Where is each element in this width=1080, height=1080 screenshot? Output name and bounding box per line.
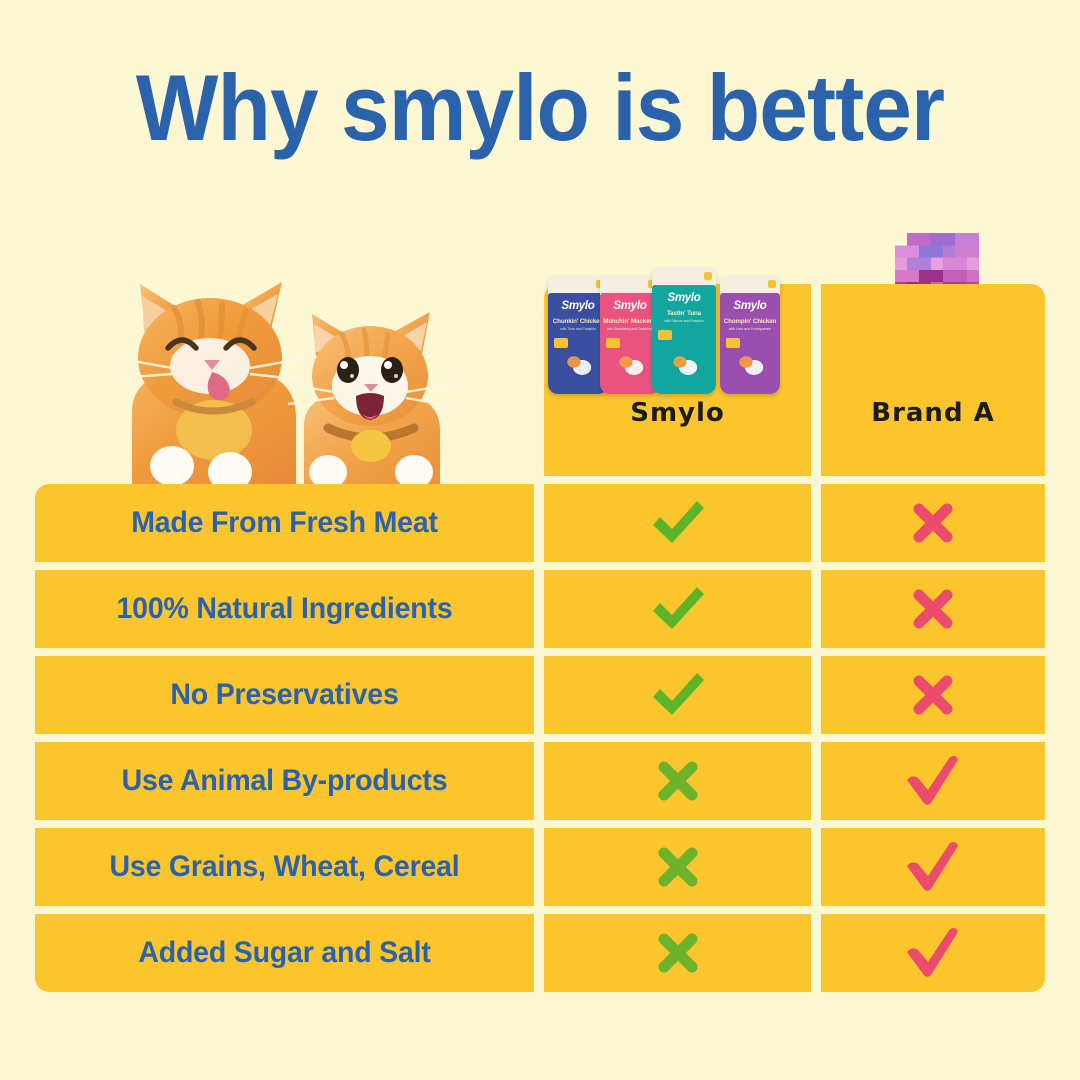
pouch-brand: Smylo — [720, 300, 780, 312]
pouch-subtitle: with Strawberry and Cranberry — [602, 327, 658, 331]
pouch-munchin-mackerel: Smylo Munchin' Mackerel with Strawberry … — [600, 276, 660, 394]
brand-a-value-cell — [821, 570, 1045, 648]
pouch-fish-art — [667, 350, 701, 380]
table-row: Use Grains, Wheat, Cereal — [35, 828, 1045, 906]
infographic-page: Why smylo is better — [0, 0, 1080, 1080]
smylo-value-cell — [544, 742, 811, 820]
table-row: 100% Natural Ingredients — [35, 570, 1045, 648]
feature-label: Use Animal By-products — [47, 764, 521, 798]
feature-label: No Preservatives — [47, 678, 521, 712]
smylo-value-cell — [544, 570, 811, 648]
feature-label-cell: Use Grains, Wheat, Cereal — [35, 828, 534, 906]
cross-icon — [821, 586, 1045, 632]
column-header-brand-a: Brand A — [821, 284, 1045, 476]
table-row: Added Sugar and Salt — [35, 914, 1045, 992]
pouch-chip-badge — [554, 338, 568, 348]
brand-a-value-cell — [821, 484, 1045, 562]
pouch-chip-badge — [658, 330, 672, 340]
column-header-smylo-label: Smylo — [544, 398, 811, 428]
brand-a-value-cell — [821, 656, 1045, 734]
feature-label: Made From Fresh Meat — [47, 506, 521, 540]
pouch-tastin-tuna: Smylo Tastin' Tuna with Salmon and Pumpk… — [652, 268, 716, 394]
smylo-value-cell — [544, 914, 811, 992]
brand-a-value-cell — [821, 742, 1045, 820]
feature-label: Added Sugar and Salt — [47, 936, 521, 970]
table-row: Use Animal By-products — [35, 742, 1045, 820]
feature-label-cell: 100% Natural Ingredients — [35, 570, 534, 648]
feature-label: Use Grains, Wheat, Cereal — [47, 850, 521, 884]
check-icon — [821, 752, 1045, 810]
pouch-corner-badge — [768, 280, 776, 288]
pouch-brand: Smylo — [600, 300, 660, 312]
check-icon — [544, 667, 811, 723]
column-header-brand-a-label: Brand A — [821, 398, 1045, 428]
pouch-brand: Smylo — [652, 292, 716, 304]
feature-label-cell: Use Animal By-products — [35, 742, 534, 820]
cross-icon — [544, 758, 811, 804]
pouch-subtitle: with Tuna and Pumpkin — [550, 327, 606, 331]
check-icon — [544, 581, 811, 637]
page-title: Why smylo is better — [38, 58, 1042, 158]
smylo-product-pouches: Smylo Chunkin' Chicken with Tuna and Pum… — [548, 252, 798, 394]
cross-icon — [821, 500, 1045, 546]
cross-icon — [544, 930, 811, 976]
feature-label-cell: Added Sugar and Salt — [35, 914, 534, 992]
pouch-corner-badge — [704, 272, 712, 280]
check-icon — [544, 495, 811, 551]
feature-label: 100% Natural Ingredients — [47, 592, 521, 626]
check-icon — [821, 838, 1045, 896]
pouch-flavor: Tastin' Tuna — [654, 310, 714, 317]
pouch-subtitle: with Liver and Pomegranate — [722, 327, 778, 331]
cross-icon — [544, 844, 811, 890]
pouch-cat-art — [733, 350, 767, 380]
pouch-chunkin-chicken: Smylo Chunkin' Chicken with Tuna and Pum… — [548, 276, 608, 394]
smylo-value-cell — [544, 484, 811, 562]
smylo-value-cell — [544, 656, 811, 734]
pouch-flavor: Chunkin' Chicken — [550, 318, 606, 325]
pouch-chompin-chicken: Smylo Chompin' Chicken with Liver and Po… — [720, 276, 780, 394]
pouch-chip-badge — [726, 338, 740, 348]
pouch-brand: Smylo — [548, 300, 608, 312]
pouch-flavor: Munchin' Mackerel — [602, 318, 658, 325]
pouch-flavor: Chompin' Chicken — [722, 318, 778, 325]
check-icon — [821, 924, 1045, 982]
smylo-value-cell — [544, 828, 811, 906]
feature-label-cell: No Preservatives — [35, 656, 534, 734]
pouch-cat-art — [561, 350, 595, 380]
comparison-table: Smylo Brand A Made From Fresh Meat — [35, 284, 1045, 986]
table-row: No Preservatives — [35, 656, 1045, 734]
pouch-chip-badge — [606, 338, 620, 348]
feature-label-cell: Made From Fresh Meat — [35, 484, 534, 562]
pouch-cat-art — [613, 350, 647, 380]
cross-icon — [821, 672, 1045, 718]
table-row: Made From Fresh Meat — [35, 484, 1045, 562]
brand-a-value-cell — [821, 828, 1045, 906]
pouch-subtitle: with Salmon and Pumpkin — [654, 319, 714, 323]
brand-a-value-cell — [821, 914, 1045, 992]
